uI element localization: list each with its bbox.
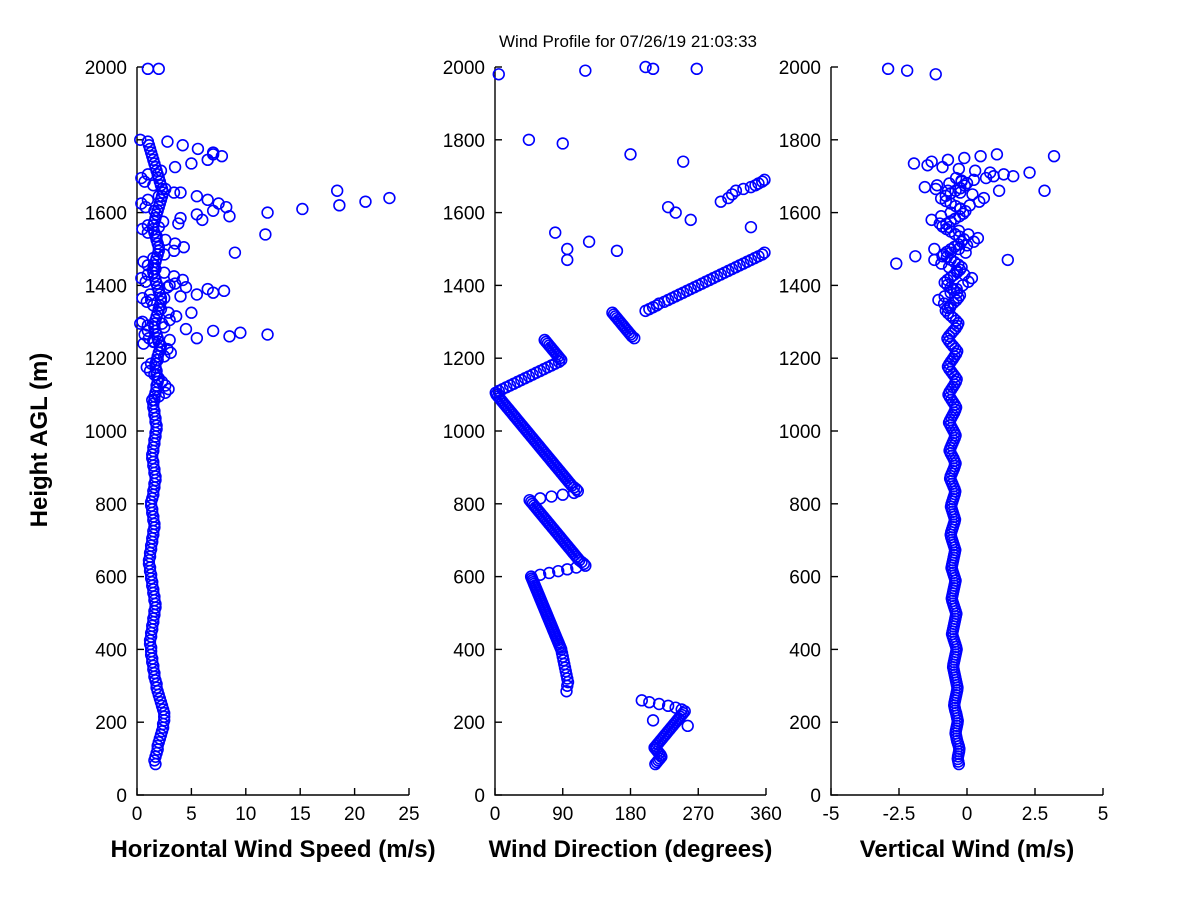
vertical-wind-x-tick-label: -2.5 <box>883 804 916 825</box>
wind-direction-y-tick-label: 200 <box>453 713 485 734</box>
horizontal-wind-speed-y-tick-label: 1000 <box>85 422 127 443</box>
wind-direction-y-tick-label: 1600 <box>443 204 485 225</box>
wind-direction-y-tick-label: 1200 <box>443 349 485 370</box>
wind-direction-x-tick-label: 270 <box>682 804 714 825</box>
y-axis-label: Height AGL (m) <box>26 353 53 528</box>
horizontal-wind-speed-x-tick-label: 10 <box>235 804 256 825</box>
horizontal-wind-speed-y-tick-label: 2000 <box>85 58 127 79</box>
wind-direction-y-tick-label: 600 <box>453 568 485 589</box>
vertical-wind-x-tick-label: 2.5 <box>1022 804 1048 825</box>
wind-direction-x-tick-label: 90 <box>552 804 573 825</box>
horizontal-wind-speed-y-tick-label: 600 <box>95 568 127 589</box>
wind-direction-x-axis-label: Wind Direction (degrees) <box>489 836 773 863</box>
vertical-wind-x-axis-label: Vertical Wind (m/s) <box>860 836 1075 863</box>
vertical-wind-y-tick-label: 2000 <box>779 58 821 79</box>
wind-direction-y-tick-label: 2000 <box>443 58 485 79</box>
horizontal-wind-speed-y-tick-label: 1800 <box>85 131 127 152</box>
horizontal-wind-speed-y-tick-label: 0 <box>116 786 127 807</box>
vertical-wind-y-tick-label: 600 <box>789 568 821 589</box>
vertical-wind-x-tick-label: 0 <box>962 804 973 825</box>
horizontal-wind-speed-x-tick-label: 20 <box>344 804 365 825</box>
wind-direction-x-tick-label: 0 <box>490 804 501 825</box>
wind-direction-y-tick-label: 1800 <box>443 131 485 152</box>
horizontal-wind-speed-y-tick-label: 1400 <box>85 276 127 297</box>
horizontal-wind-speed-x-axis-label: Horizontal Wind Speed (m/s) <box>110 836 435 863</box>
figure-background <box>0 0 1200 900</box>
vertical-wind-y-tick-label: 400 <box>789 640 821 661</box>
vertical-wind-y-tick-label: 200 <box>789 713 821 734</box>
wind-direction-y-tick-label: 800 <box>453 495 485 516</box>
wind-direction-x-tick-label: 360 <box>750 804 782 825</box>
horizontal-wind-speed-x-tick-label: 15 <box>290 804 311 825</box>
vertical-wind-x-tick-label: 5 <box>1098 804 1109 825</box>
wind-direction-y-tick-label: 0 <box>474 786 485 807</box>
horizontal-wind-speed-y-tick-label: 800 <box>95 495 127 516</box>
figure-title: Wind Profile for 07/26/19 21:03:33 <box>499 32 757 51</box>
vertical-wind-y-tick-label: 800 <box>789 495 821 516</box>
vertical-wind-y-tick-label: 1600 <box>779 204 821 225</box>
vertical-wind-x-tick-label: -5 <box>823 804 840 825</box>
vertical-wind-y-tick-label: 1000 <box>779 422 821 443</box>
horizontal-wind-speed-y-tick-label: 400 <box>95 640 127 661</box>
horizontal-wind-speed-x-tick-label: 25 <box>398 804 419 825</box>
vertical-wind-y-tick-label: 1800 <box>779 131 821 152</box>
figure-canvas: Wind Profile for 07/26/19 21:03:33 Heigh… <box>0 0 1200 900</box>
wind-direction-y-tick-label: 1400 <box>443 276 485 297</box>
horizontal-wind-speed-y-tick-label: 1200 <box>85 349 127 370</box>
horizontal-wind-speed-y-tick-label: 200 <box>95 713 127 734</box>
wind-direction-y-tick-label: 1000 <box>443 422 485 443</box>
wind-direction-y-tick-label: 400 <box>453 640 485 661</box>
horizontal-wind-speed-y-tick-label: 1600 <box>85 204 127 225</box>
horizontal-wind-speed-x-tick-label: 5 <box>186 804 197 825</box>
wind-profile-figure: Wind Profile for 07/26/19 21:03:33 Heigh… <box>0 0 1200 900</box>
wind-direction-x-tick-label: 180 <box>615 804 647 825</box>
vertical-wind-y-tick-label: 1200 <box>779 349 821 370</box>
vertical-wind-y-tick-label: 1400 <box>779 276 821 297</box>
horizontal-wind-speed-x-tick-label: 0 <box>132 804 143 825</box>
vertical-wind-y-tick-label: 0 <box>810 786 821 807</box>
